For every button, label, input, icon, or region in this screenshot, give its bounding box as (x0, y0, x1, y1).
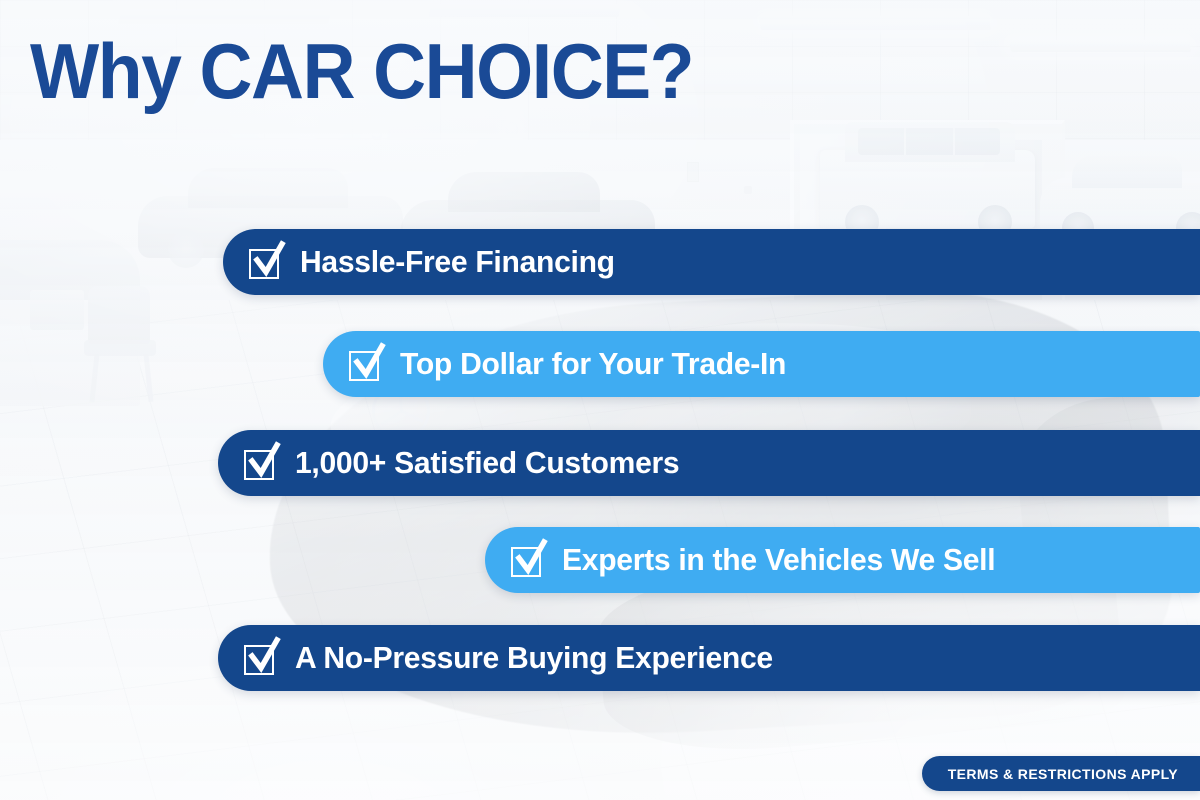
checkbox-checked-icon (349, 347, 383, 381)
benefit-row-top-dollar-trade-in[interactable]: Top Dollar for Your Trade-In (323, 331, 1200, 397)
benefit-row-satisfied-customers[interactable]: 1,000+ Satisfied Customers (218, 430, 1200, 496)
benefit-label: Hassle-Free Financing (300, 244, 615, 280)
terms-and-restrictions-badge: TERMS & RESTRICTIONS APPLY (922, 756, 1200, 791)
benefit-row-experts-vehicles[interactable]: Experts in the Vehicles We Sell (485, 527, 1200, 593)
promo-graphic: Why CAR CHOICE? Hassle-Free Financing To… (0, 0, 1200, 800)
benefit-row-hassle-free-financing[interactable]: Hassle-Free Financing (223, 229, 1200, 295)
benefit-label: Experts in the Vehicles We Sell (562, 542, 995, 578)
checkbox-checked-icon (511, 543, 545, 577)
page-title: Why CAR CHOICE? (30, 32, 693, 110)
benefit-label: Top Dollar for Your Trade-In (400, 346, 786, 382)
content-layer: Why CAR CHOICE? Hassle-Free Financing To… (0, 0, 1200, 800)
benefit-label: A No-Pressure Buying Experience (295, 640, 773, 676)
benefit-row-no-pressure-buying[interactable]: A No-Pressure Buying Experience (218, 625, 1200, 691)
checkbox-checked-icon (249, 245, 283, 279)
benefit-label: 1,000+ Satisfied Customers (295, 445, 679, 481)
checkbox-checked-icon (244, 641, 278, 675)
checkbox-checked-icon (244, 446, 278, 480)
